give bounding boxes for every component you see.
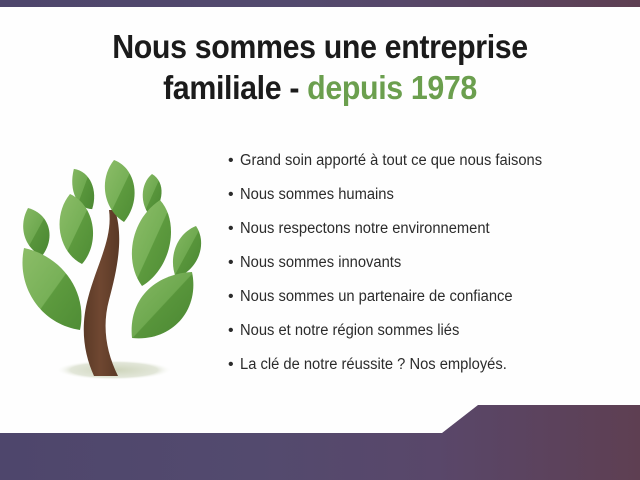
tree-leaf: [105, 160, 135, 222]
list-item: • La clé de notre réussite ? Nos employé…: [228, 354, 628, 388]
bullet-marker-icon: •: [228, 218, 240, 240]
list-item-label: Nous respectons notre environnement: [240, 218, 490, 240]
list-item: • Nous sommes un partenaire de confiance: [228, 286, 628, 320]
feature-bullet-list: • Grand soin apporté à tout ce que nous …: [228, 150, 628, 388]
tree-leaf: [132, 200, 171, 286]
list-item-label: Nous et notre région sommes liés: [240, 320, 459, 342]
list-item-label: La clé de notre réussite ? Nos employés.: [240, 354, 507, 376]
title-line-2: familiale - depuis 1978: [26, 67, 615, 108]
bullet-marker-icon: •: [228, 286, 240, 308]
bullet-marker-icon: •: [228, 150, 240, 172]
tree-leaf: [22, 248, 81, 330]
footer-shape-path: [0, 405, 640, 480]
title-line-2-accent: depuis 1978: [307, 69, 477, 106]
list-item: • Nous et notre région sommes liés: [228, 320, 628, 354]
list-item-label: Nous sommes un partenaire de confiance: [240, 286, 513, 308]
bullet-marker-icon: •: [228, 320, 240, 342]
list-item-label: Nous sommes humains: [240, 184, 394, 206]
page-title: Nous sommes une entreprise familiale - d…: [26, 26, 615, 108]
bullet-marker-icon: •: [228, 184, 240, 206]
list-item: • Nous sommes innovants: [228, 252, 628, 286]
tree-illustration: [14, 152, 219, 387]
list-item: • Grand soin apporté à tout ce que nous …: [228, 150, 628, 184]
list-item: • Nous sommes humains: [228, 184, 628, 218]
slide-canvas: Nous sommes une entreprise familiale - d…: [0, 0, 640, 480]
title-line-1: Nous sommes une entreprise: [26, 26, 615, 67]
list-item-label: Grand soin apporté à tout ce que nous fa…: [240, 150, 542, 172]
list-item-label: Nous sommes innovants: [240, 252, 401, 274]
bullet-marker-icon: •: [228, 354, 240, 376]
footer-bar: tabor-automobiles.fr: [0, 398, 640, 480]
bullet-marker-icon: •: [228, 252, 240, 274]
list-item: • Nous respectons notre environnement: [228, 218, 628, 252]
tree-leaf: [173, 226, 201, 278]
title-line-2-prefix: familiale -: [163, 69, 299, 106]
top-accent-bar: [0, 0, 640, 7]
